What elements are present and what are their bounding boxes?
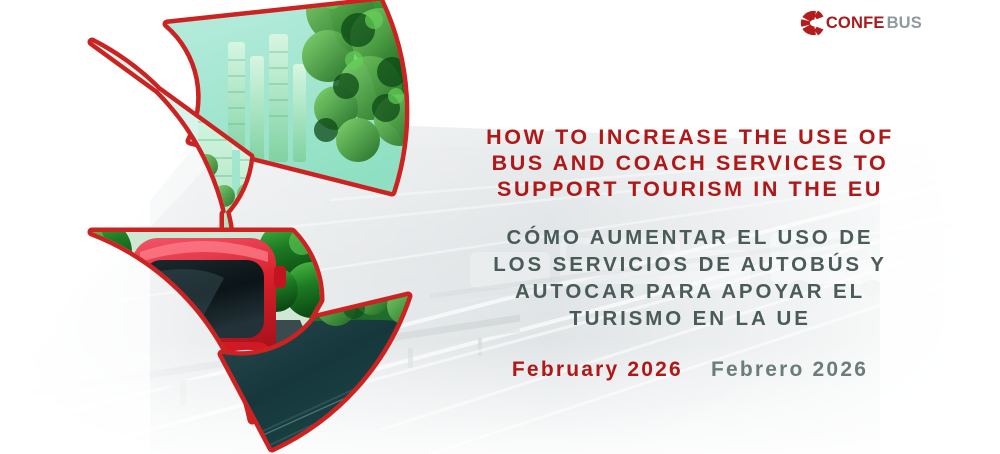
headline-block: HOW TO INCREASE THE USE OF BUS AND COACH… <box>410 124 970 382</box>
headline-english: HOW TO INCREASE THE USE OF BUS AND COACH… <box>410 124 970 202</box>
date-row: February 2026 Febrero 2026 <box>410 358 970 382</box>
c-collage-svg <box>40 0 460 454</box>
logo-text-confe: CONFE <box>826 15 885 32</box>
date-spanish: Febrero 2026 <box>711 358 868 382</box>
date-english: February 2026 <box>512 358 683 382</box>
confebus-c-photo-collage <box>40 0 460 454</box>
headline-spanish: CÓMO AUMENTAR EL USO DE LOS SERVICIOS DE… <box>410 224 970 332</box>
poster-canvas: HOW TO INCREASE THE USE OF BUS AND COACH… <box>0 0 1000 454</box>
confebus-c-wedge-mark-icon <box>798 8 824 38</box>
confebus-logo[interactable]: CONFE BUS <box>798 8 922 38</box>
logo-text-bus: BUS <box>887 15 922 32</box>
